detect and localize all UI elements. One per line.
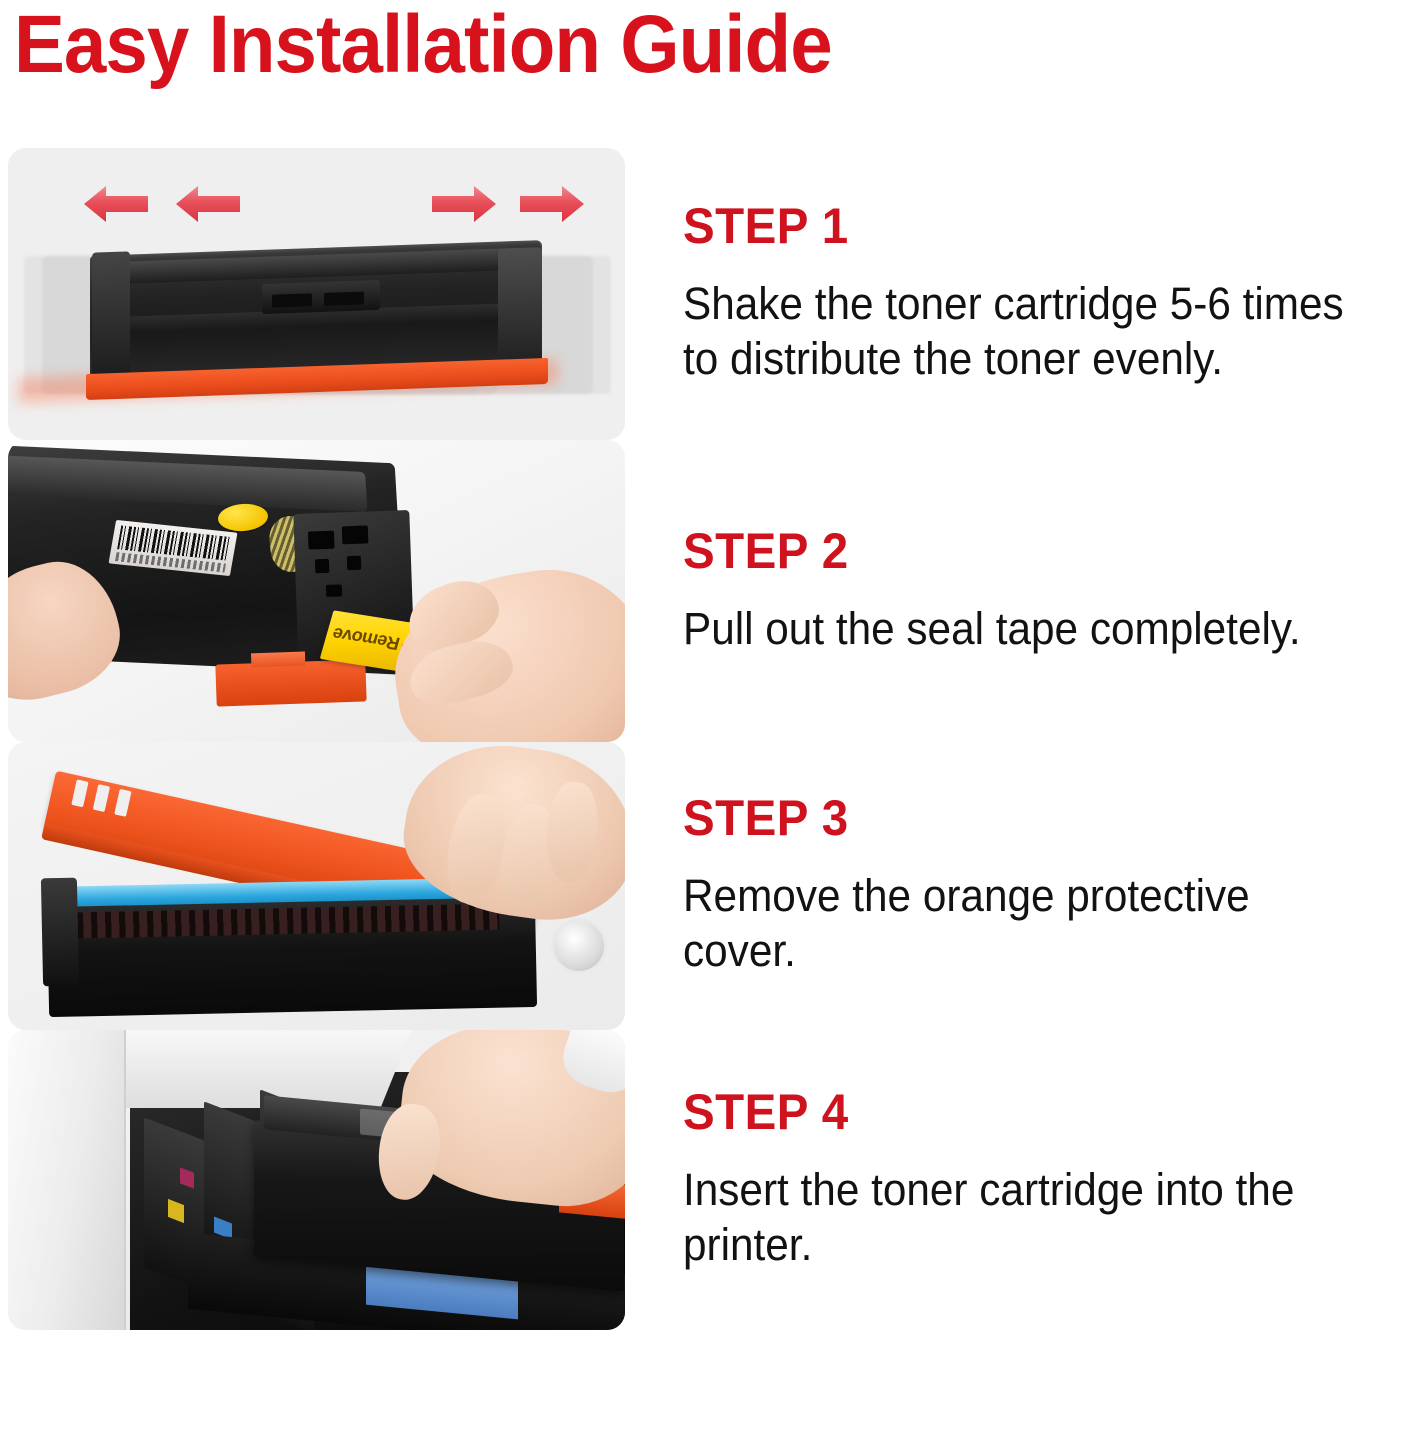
drive-gear	[551, 918, 607, 974]
step-4-image	[8, 1030, 625, 1330]
shake-arrows	[8, 176, 625, 232]
printer-top-cover	[80, 1030, 412, 1108]
cartridge-body	[47, 897, 537, 1017]
step-3-description: Remove the orange protective cover.	[683, 869, 1365, 979]
printer-side-panel	[8, 1030, 126, 1330]
step-row-3: STEP 3 Remove the orange protective cove…	[0, 742, 1412, 1030]
step-4-label: STEP 4	[683, 1087, 1372, 1137]
step-3-label: STEP 3	[683, 793, 1372, 843]
step-row-2: Remove STEP 2 Pull out the seal tape com…	[0, 440, 1412, 742]
cartridge-end-cap-right	[498, 247, 542, 367]
step-1-label: STEP 1	[683, 201, 1372, 251]
step-1-text: STEP 1 Shake the toner cartridge 5-6 tim…	[625, 201, 1412, 387]
cartridge-handle	[262, 280, 380, 314]
step-2-label: STEP 2	[683, 526, 1372, 576]
cartridge-fins	[69, 904, 499, 939]
installation-guide-page: Easy Installation Guide	[0, 0, 1412, 1446]
step-4-text: STEP 4 Insert the toner cartridge into t…	[625, 1087, 1412, 1273]
steps-list: STEP 1 Shake the toner cartridge 5-6 tim…	[0, 148, 1412, 1330]
step-1-image	[8, 148, 625, 440]
arrow-right-icon	[520, 184, 584, 224]
arrow-right-icon	[432, 184, 496, 224]
step-row-4: STEP 4 Insert the toner cartridge into t…	[0, 1030, 1412, 1330]
step-3-image	[8, 742, 625, 1030]
seal-tape-text: Remove	[330, 623, 402, 654]
arrow-left-icon	[176, 184, 240, 224]
toner-cartridge-illustration	[60, 248, 575, 408]
cartridge-end-cap-left	[41, 878, 79, 987]
step-row-1: STEP 1 Shake the toner cartridge 5-6 tim…	[0, 148, 1412, 440]
step-2-description: Pull out the seal tape completely.	[683, 602, 1365, 657]
step-2-image: Remove	[8, 440, 625, 742]
arrow-left-icon	[84, 184, 148, 224]
orange-protective-base	[215, 659, 366, 706]
cartridge-body	[90, 248, 542, 398]
step-4-description: Insert the toner cartridge into the prin…	[683, 1163, 1365, 1273]
step-2-text: STEP 2 Pull out the seal tape completely…	[625, 526, 1412, 657]
step-3-text: STEP 3 Remove the orange protective cove…	[625, 793, 1412, 979]
page-title: Easy Installation Guide	[14, 2, 832, 88]
step-1-description: Shake the toner cartridge 5-6 times to d…	[683, 277, 1365, 387]
cartridge-end-cap-left	[92, 251, 130, 376]
cartridge-top-rail	[8, 456, 367, 512]
